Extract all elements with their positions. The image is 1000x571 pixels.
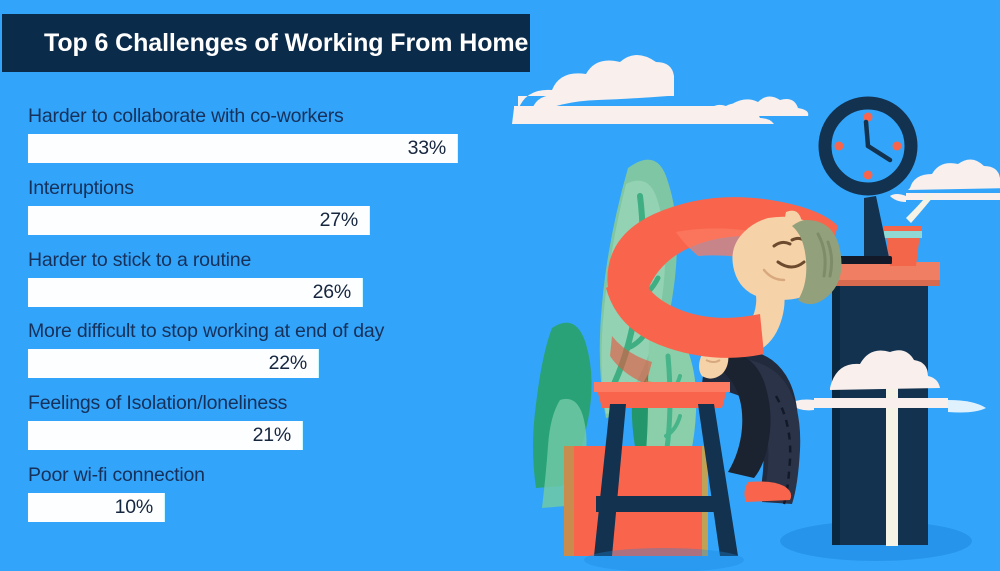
drink-cup-icon [884,194,933,266]
bar-track-2: 27% [28,206,369,235]
bar-value-3: 26% [313,281,351,304]
bar-label-2: Interruptions [28,176,369,200]
bar-label-4: More difficult to stop working at end of… [28,319,384,343]
illustration-burnout-scene [500,0,1000,571]
infographic-root: Top 6 Challenges of Working From Home Ha… [0,0,1000,571]
bar-row-4: More difficult to stop working at end of… [28,319,384,378]
desk-pedestal [780,275,972,561]
bar-row-6: Poor wi-fi connection 10% [28,463,205,522]
page-title: Top 6 Challenges of Working From Home [44,29,528,58]
bar-value-2: 27% [320,209,358,232]
bar-value-5: 21% [253,424,291,447]
bar-track-4: 22% [28,349,318,378]
bar-row-3: Harder to stick to a routine 26% [28,248,362,307]
bar-track-5: 21% [28,421,302,450]
cloud-front-desk-icon [790,350,986,412]
wall-clock-icon [825,103,911,189]
bar-label-6: Poor wi-fi connection [28,463,205,487]
bar-row-5: Feelings of Isolation/loneliness 21% [28,391,302,450]
bar-value-6: 10% [115,496,153,519]
bar-track-3: 26% [28,278,362,307]
cloud-large-left-icon [512,55,808,124]
bar-row-2: Interruptions 27% [28,176,369,235]
bar-label-3: Harder to stick to a routine [28,248,362,272]
bar-track-1: 33% [28,134,457,163]
bar-value-4: 22% [269,352,307,375]
bar-chart: Harder to collaborate with co-workers 33… [0,104,500,554]
bar-row-1: Harder to collaborate with co-workers 33… [28,104,457,163]
bar-label-1: Harder to collaborate with co-workers [28,104,457,128]
title-bar: Top 6 Challenges of Working From Home [2,14,530,72]
bar-track-6: 10% [28,493,164,522]
bar-value-1: 33% [408,137,446,160]
bar-label-5: Feelings of Isolation/loneliness [28,391,302,415]
